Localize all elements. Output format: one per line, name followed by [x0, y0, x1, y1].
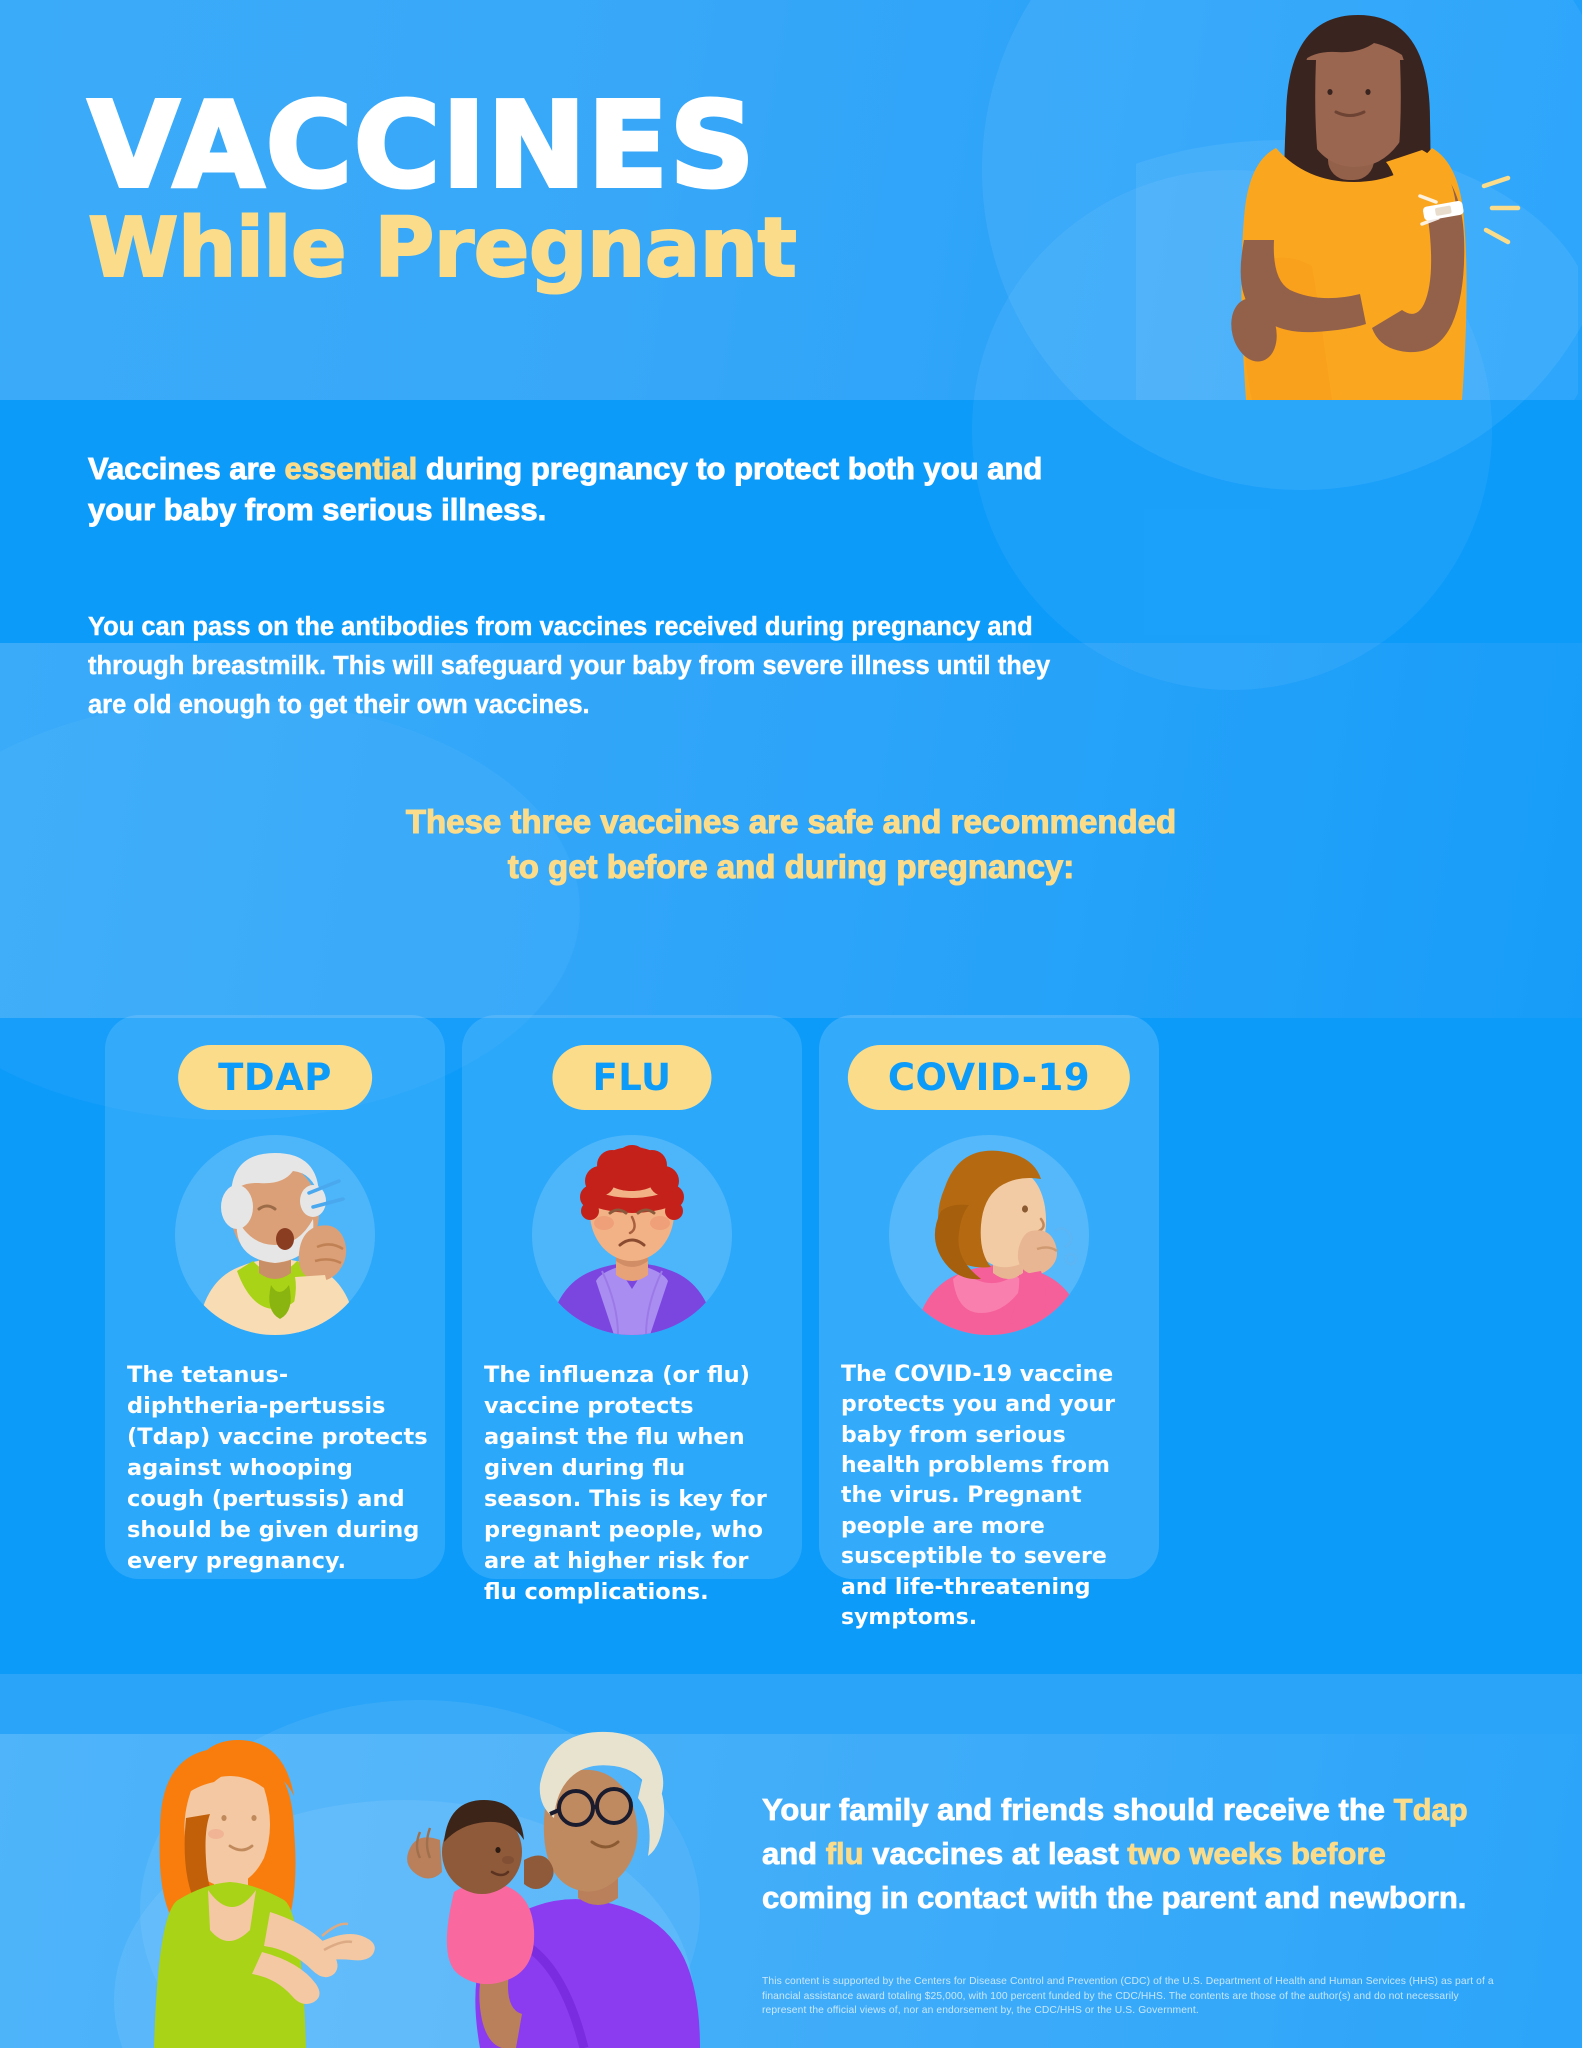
disclaimer-text: This content is supported by the Centers… — [762, 1975, 1502, 2019]
subheading-line-1: These three vaccines are safe and recomm… — [0, 800, 1582, 845]
vaccine-cards: TDAP — [0, 1015, 1582, 1675]
intro-lead-highlight: essential — [285, 451, 418, 486]
subheading-line-2: to get before and during pregnancy: — [0, 845, 1582, 890]
footer-part-4: coming in contact with the parent and ne… — [762, 1880, 1466, 1915]
footer-highlight-two-weeks: two weeks before — [1127, 1836, 1385, 1871]
hero-section: VACCINES While Pregnant — [0, 0, 1582, 400]
vaccine-card-tdap[interactable]: TDAP — [105, 1015, 445, 1579]
page-subtitle: While Pregnant — [88, 208, 796, 290]
vaccine-card-covid[interactable]: COVID-19 — [819, 1015, 1159, 1579]
footer-part-1: Your family and friends should receive t… — [762, 1792, 1394, 1827]
pregnant-woman-with-bandage-illustration — [1136, 0, 1578, 400]
card-label-tdap: TDAP — [178, 1045, 372, 1110]
vaccine-card-flu[interactable]: FLU — [462, 1015, 802, 1579]
footer-highlight-flu: flu — [826, 1836, 864, 1871]
footer-part-3: vaccines at least — [864, 1836, 1128, 1871]
page-title: VACCINES — [88, 88, 756, 204]
person-coughing-covid-illustration — [889, 1135, 1089, 1335]
subheading: These three vaccines are safe and recomm… — [0, 800, 1582, 889]
footer-highlight-tdap: Tdap — [1394, 1792, 1468, 1827]
card-body-covid: The COVID-19 vaccine protects you and yo… — [841, 1360, 1145, 1633]
intro-lead-before: Vaccines are — [88, 451, 285, 486]
intro-body-text: You can pass on the antibodies from vacc… — [88, 608, 1088, 724]
intro-lead-text: Vaccines are essential during pregnancy … — [88, 448, 1048, 530]
sick-person-with-flu-illustration — [532, 1135, 732, 1335]
footer-part-2: and — [762, 1836, 826, 1871]
card-body-flu: The influenza (or flu) vaccine protects … — [484, 1360, 788, 1608]
card-body-tdap: The tetanus- diphtheria-pertussis (Tdap)… — [127, 1360, 431, 1577]
card-label-flu: FLU — [552, 1045, 711, 1110]
family-with-baby-and-grandparent-illustration — [104, 1700, 744, 2048]
card-label-covid: COVID-19 — [848, 1045, 1130, 1110]
infographic-poster: VACCINES While Pregnant — [0, 0, 1582, 2048]
elderly-man-coughing-illustration — [175, 1135, 375, 1335]
footer-text: Your family and friends should receive t… — [762, 1788, 1482, 1920]
